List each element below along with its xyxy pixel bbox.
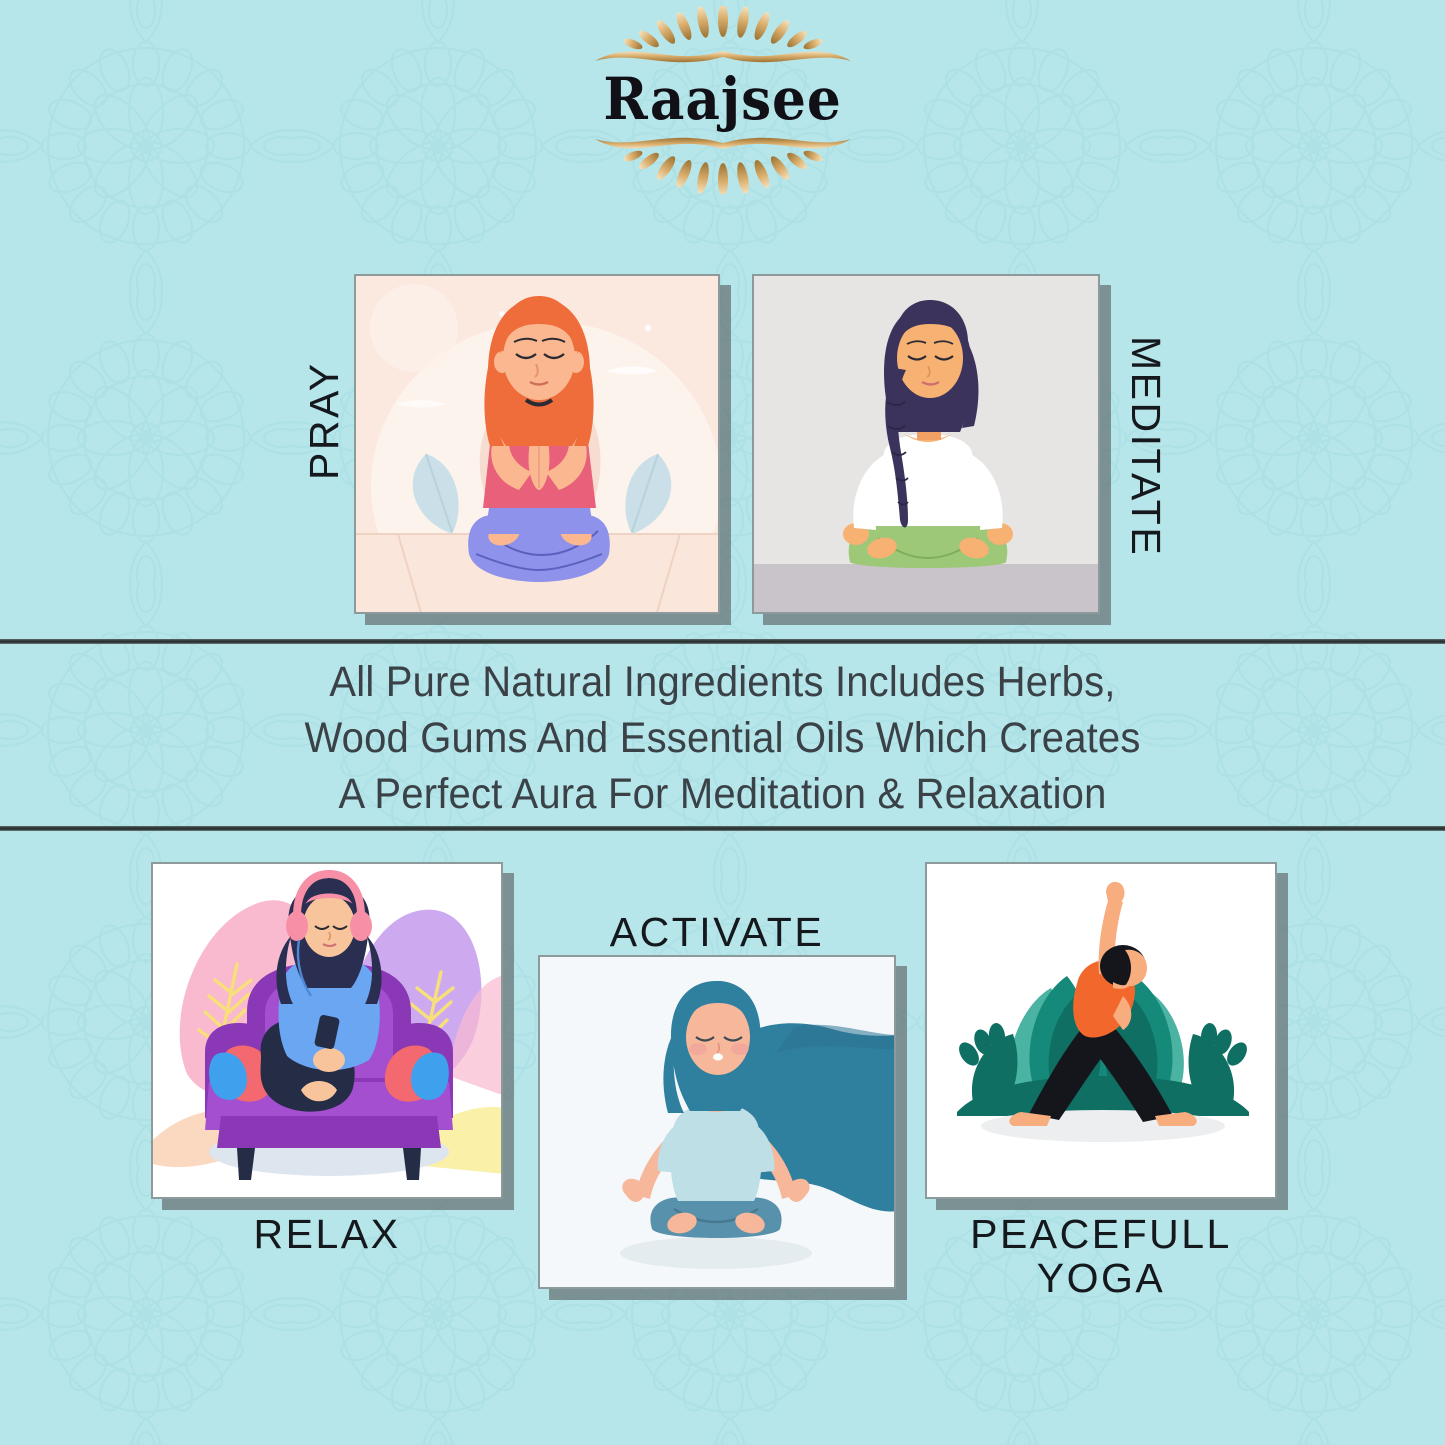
caption-meditate: MEDITATE (1124, 336, 1168, 557)
scene-meditate (754, 276, 1098, 612)
tagline-line-2: Wood Gums And Essential Oils Which Creat… (51, 711, 1395, 767)
scene-activate (540, 957, 894, 1287)
divider-bottom (0, 826, 1445, 831)
caption-pray: PRAY (302, 361, 346, 480)
flourish-bottom-icon (593, 132, 853, 194)
panel-pray (354, 274, 720, 614)
panel-relax (151, 862, 503, 1199)
caption-peacefull-line-1: PEACEFULL (925, 1212, 1277, 1256)
caption-relax: RELAX (151, 1212, 503, 1256)
flourish-top-icon (593, 6, 853, 68)
panel-peacefull-yoga (925, 862, 1277, 1199)
scene-peacefull-yoga (927, 864, 1275, 1197)
brand-name: Raajsee (603, 70, 841, 128)
caption-activate: ACTIVATE (538, 910, 896, 954)
panel-activate (538, 955, 896, 1289)
caption-peacefull-line-2: YOGA (925, 1256, 1277, 1300)
panel-meditate (752, 274, 1100, 614)
tagline-line-1: All Pure Natural Ingredients Includes He… (51, 655, 1395, 711)
brand-logo: Raajsee (0, 6, 1445, 206)
poster-root: Raajsee PRAY (0, 0, 1445, 1445)
caption-peacefull-yoga: PEACEFULL YOGA (925, 1212, 1277, 1301)
divider-top (0, 639, 1445, 644)
scene-relax (153, 864, 501, 1197)
tagline-line-3: A Perfect Aura For Meditation & Relaxati… (51, 767, 1395, 823)
tagline: All Pure Natural Ingredients Includes He… (51, 655, 1395, 823)
scene-pray (356, 276, 718, 612)
